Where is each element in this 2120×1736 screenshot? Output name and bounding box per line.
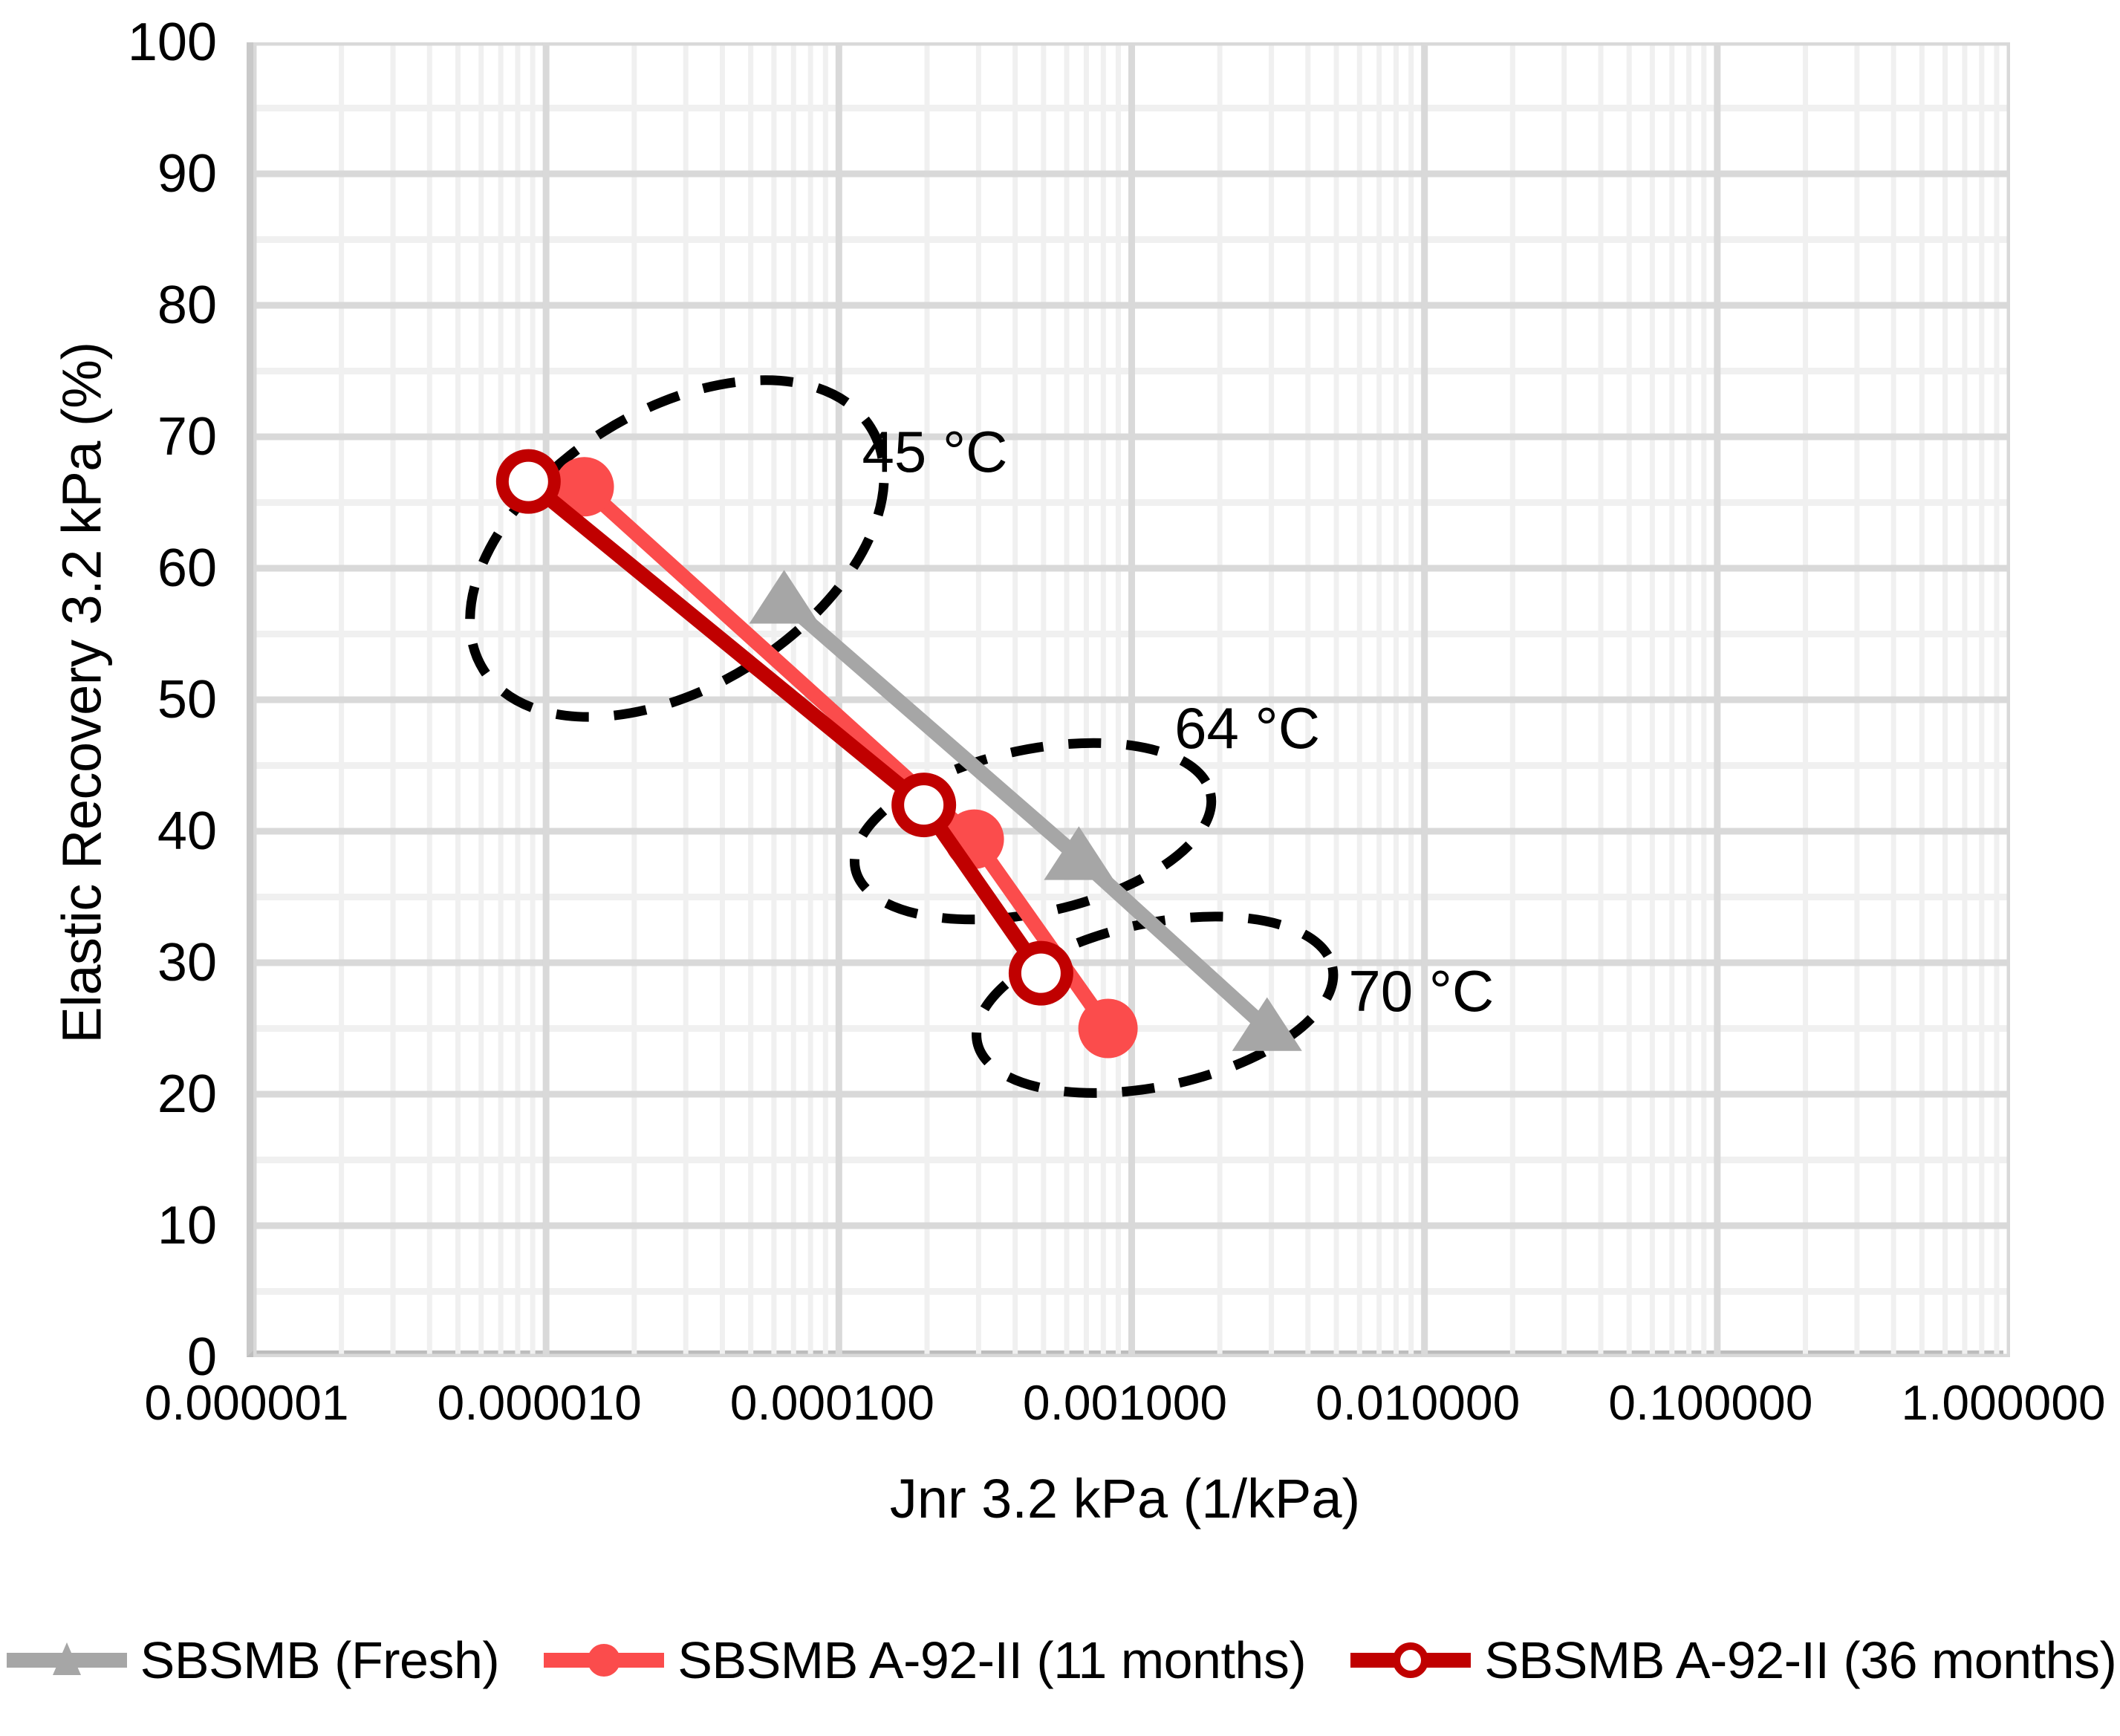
y-tick-label: 90 xyxy=(157,147,217,201)
legend-item[interactable]: SBSMB A-92-II (36 months) xyxy=(1347,1631,2116,1690)
y-tick-label: 40 xyxy=(157,804,217,858)
y-tick-label: 70 xyxy=(157,410,217,464)
plot-area: 45 °C64 °C70 °C xyxy=(247,42,2003,1357)
legend-marker-circle-open xyxy=(1347,1636,1474,1685)
y-axis-title: Elastic Recovery 3.2 kPa (%) xyxy=(51,210,114,1176)
legend-label: SBSMB (Fresh) xyxy=(140,1631,500,1690)
chart-root: Elastic Recovery 3.2 kPa (%) 01020304050… xyxy=(0,0,2120,1736)
data-point-marker xyxy=(502,455,554,507)
legend-marker-circle-filled xyxy=(541,1636,667,1685)
y-tick-label: 30 xyxy=(157,936,217,989)
legend-item[interactable]: SBSMB A-92-II (11 months) xyxy=(541,1631,1306,1690)
x-tick-label: 0.000010 xyxy=(438,1378,642,1427)
legend-label: SBSMB A-92-II (11 months) xyxy=(677,1631,1306,1690)
y-tick-label: 50 xyxy=(157,673,217,726)
chart-legend: SBSMB (Fresh)SBSMB A-92-II (11 months)SB… xyxy=(0,1631,2120,1690)
legend-label: SBSMB A-92-II (36 months) xyxy=(1484,1631,2116,1690)
legend-marker-triangle xyxy=(4,1636,130,1685)
series-2 xyxy=(502,455,1067,999)
data-point-marker xyxy=(1015,947,1067,999)
x-tick-label: 0.000100 xyxy=(730,1378,934,1427)
legend-item[interactable]: SBSMB (Fresh) xyxy=(4,1631,500,1690)
x-tick-label: 0.100000 xyxy=(1608,1378,1812,1427)
x-tick-label: 1.000000 xyxy=(1901,1378,2105,1427)
data-point-marker xyxy=(898,779,950,831)
y-tick-label: 60 xyxy=(157,542,217,595)
cluster-label: 70 °C xyxy=(1348,958,1494,1024)
x-axis-title: Jnr 3.2 kPa (1/kPa) xyxy=(247,1467,2003,1530)
y-tick-label: 100 xyxy=(128,16,217,69)
plot-svg: 45 °C64 °C70 °C xyxy=(253,42,2010,1357)
x-tick-label: 0.001000 xyxy=(1023,1378,1227,1427)
cluster-ellipse xyxy=(410,311,943,787)
y-tick-label: 20 xyxy=(157,1067,217,1121)
cluster-label: 45 °C xyxy=(862,419,1008,484)
x-tick-label: 0.000001 xyxy=(144,1378,348,1427)
y-tick-label: 10 xyxy=(157,1199,217,1252)
y-tick-label: 80 xyxy=(157,279,217,332)
cluster-label: 64 °C xyxy=(1174,695,1320,761)
x-tick-label: 0.010000 xyxy=(1316,1378,1520,1427)
data-point-marker xyxy=(1079,999,1138,1059)
